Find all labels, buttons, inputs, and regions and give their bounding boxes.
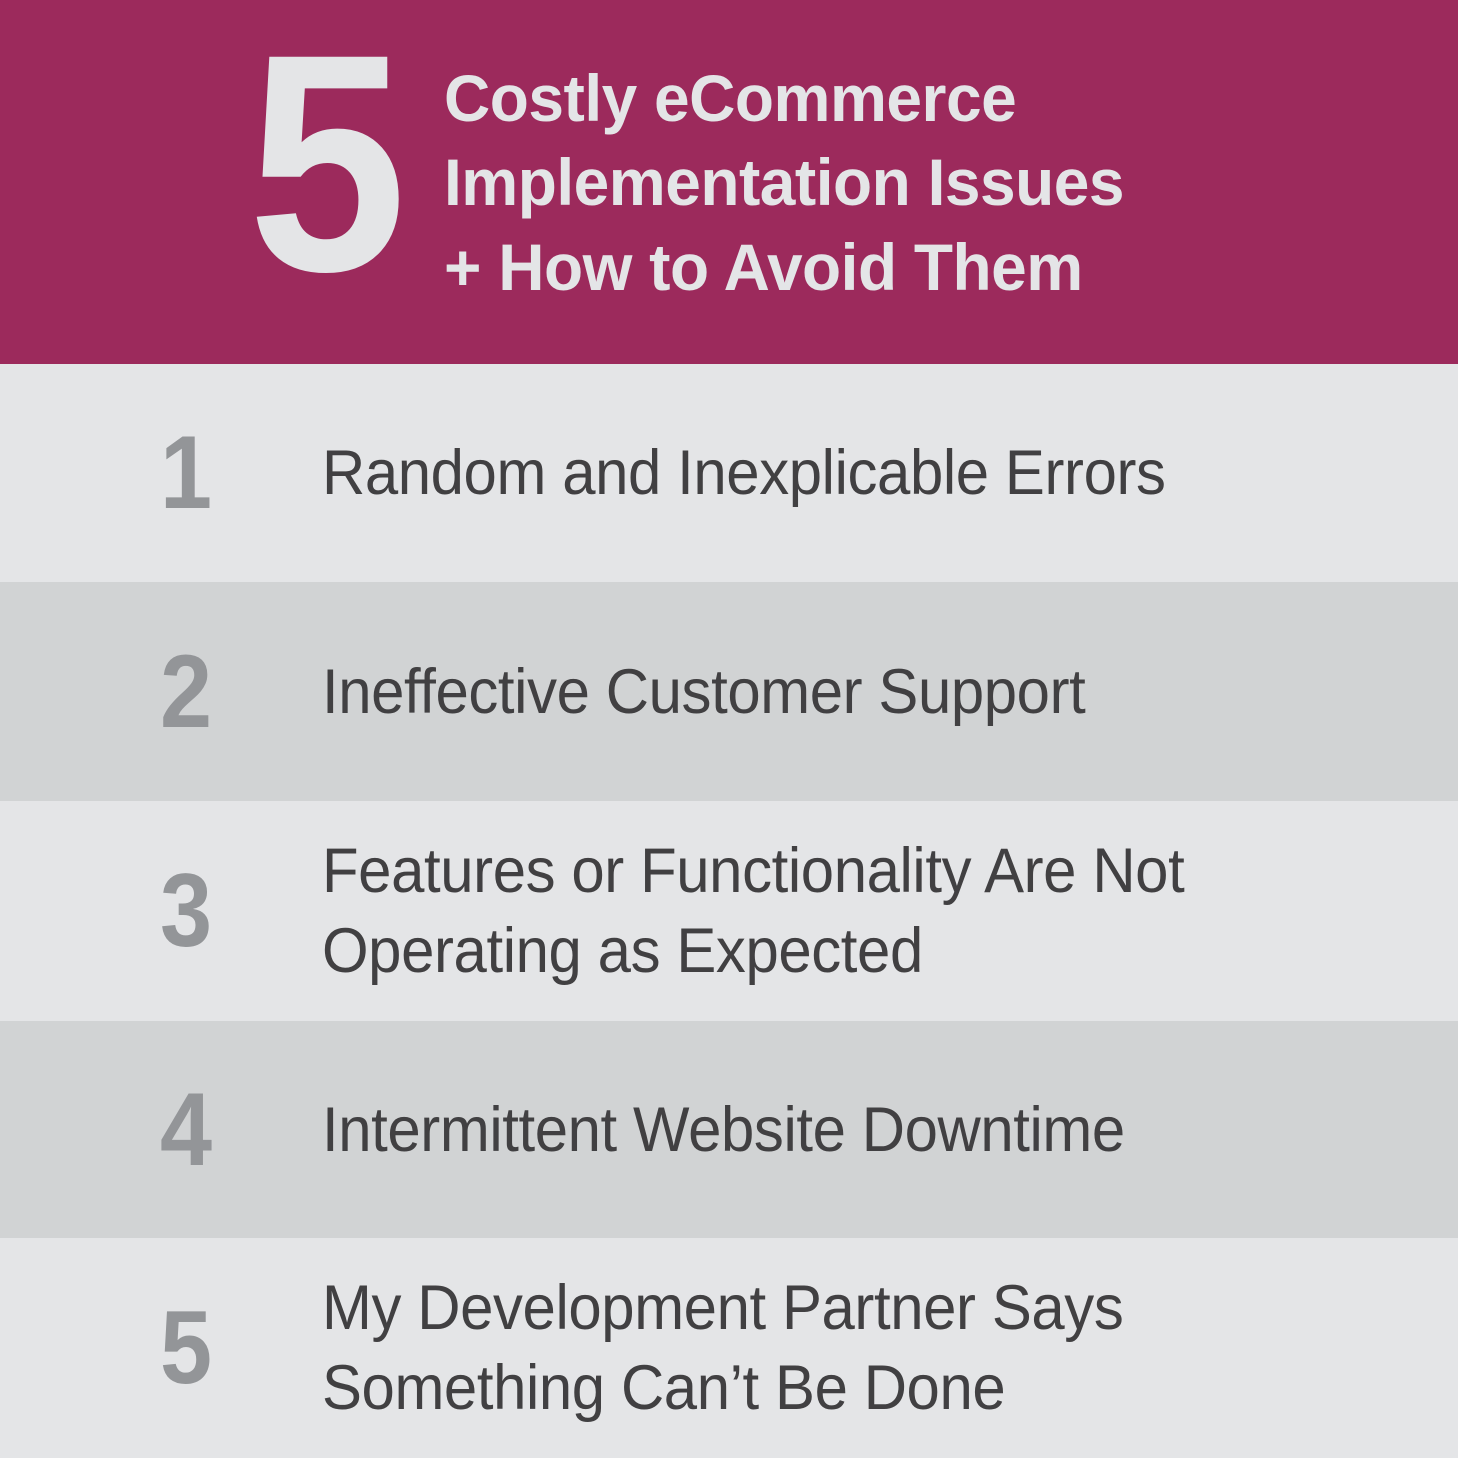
page-title-line-2: Implementation Issues — [444, 140, 1124, 224]
list-item-5-line-2: Something Can’t Be Done — [322, 1348, 1401, 1428]
list-item-2-label: Ineffective Customer Support — [322, 652, 1401, 732]
list-item-3: 3 Features or Functionality Are Not Oper… — [0, 801, 1458, 1021]
list-item-4-line-1: Intermittent Website Downtime — [322, 1090, 1401, 1170]
list-item-1-line-1: Random and Inexplicable Errors — [322, 433, 1401, 513]
page-title: Costly eCommerce Implementation Issues +… — [444, 56, 1124, 309]
page-title-line-1: Costly eCommerce — [444, 56, 1124, 140]
list-item-3-label: Features or Functionality Are Not Operat… — [322, 831, 1401, 991]
list-item-5-line-1: My Development Partner Says — [322, 1268, 1401, 1348]
list-item-4-numeral: 4 — [160, 1078, 250, 1182]
list-item-4: 4 Intermittent Website Downtime — [0, 1021, 1458, 1238]
list-item-1: 1 Random and Inexplicable Errors — [0, 364, 1458, 582]
list-item-5: 5 My Development Partner Says Something … — [0, 1238, 1458, 1458]
list-item-2-line-1: Ineffective Customer Support — [322, 652, 1401, 732]
infographic-root: 5 Costly eCommerce Implementation Issues… — [0, 0, 1458, 1458]
page-title-line-3: + How to Avoid Them — [444, 225, 1124, 309]
list-item-5-label: My Development Partner Says Something Ca… — [322, 1268, 1401, 1428]
header-banner: 5 Costly eCommerce Implementation Issues… — [0, 0, 1458, 364]
header-content: 5 Costly eCommerce Implementation Issues… — [248, 44, 1145, 309]
list-item-1-label: Random and Inexplicable Errors — [322, 433, 1401, 513]
list-item-1-numeral: 1 — [160, 421, 250, 525]
list-item-2: 2 Ineffective Customer Support — [0, 582, 1458, 801]
list-item-2-numeral: 2 — [160, 640, 250, 744]
list-item-3-line-1: Features or Functionality Are Not — [322, 831, 1401, 911]
header-count-numeral: 5 — [248, 36, 397, 290]
list-item-5-numeral: 5 — [160, 1296, 250, 1400]
list-item-3-line-2: Operating as Expected — [322, 911, 1401, 991]
list-item-4-label: Intermittent Website Downtime — [322, 1090, 1401, 1170]
list-item-3-numeral: 3 — [160, 859, 250, 963]
